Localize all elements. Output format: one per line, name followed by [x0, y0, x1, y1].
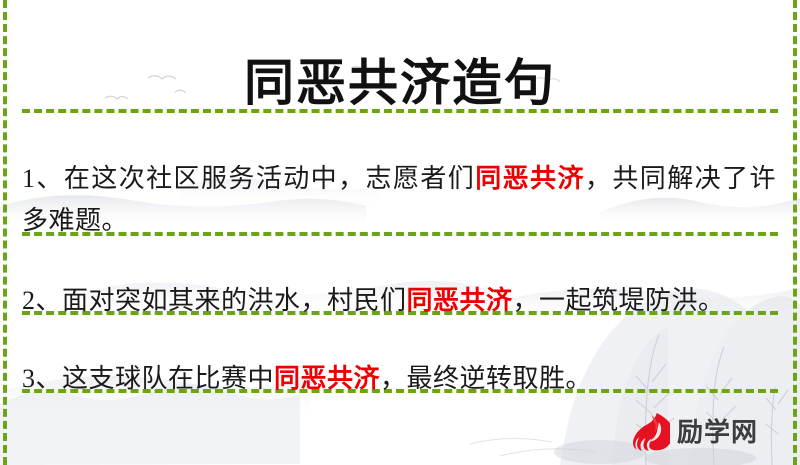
sentence-list: 1、在这次社区服务活动中，志愿者们同恶共济，共同解决了许多难题。 2、面对突如其…	[0, 0, 800, 465]
sentence-item: 3、这支球队在比赛中同恶共济，最终逆转取胜。	[22, 358, 776, 400]
red-swirl-flame-icon	[628, 409, 670, 451]
site-watermark: 励学网	[628, 409, 758, 451]
sentence-index: 1、	[22, 164, 64, 193]
sentence-index: 3、	[22, 364, 62, 393]
sentence-text-before: 这支球队在比赛中	[62, 364, 274, 393]
sentence-text-after: ，一起筑堤防洪。	[513, 286, 725, 315]
sentence-text-after: ，最终逆转取胜。	[380, 364, 592, 393]
sentence-index: 2、	[22, 286, 62, 315]
sentence-text-before: 面对突如其来的洪水，村民们	[62, 286, 407, 315]
idiom-highlight: 同恶共济	[407, 286, 513, 315]
sentence-item: 1、在这次社区服务活动中，志愿者们同恶共济，共同解决了许多难题。	[22, 158, 776, 242]
idiom-highlight: 同恶共济	[274, 364, 380, 393]
site-watermark-label: 励学网	[677, 412, 758, 449]
page-root: 同恶共济造句 1、在这次社区服务活动中，志愿者们同恶共济，共同解决了许多难题。 …	[0, 0, 800, 465]
idiom-highlight: 同恶共济	[475, 164, 585, 193]
sentence-text-before: 在这次社区服务活动中，志愿者们	[64, 164, 475, 193]
sentence-item: 2、面对突如其来的洪水，村民们同恶共济，一起筑堤防洪。	[22, 280, 776, 322]
